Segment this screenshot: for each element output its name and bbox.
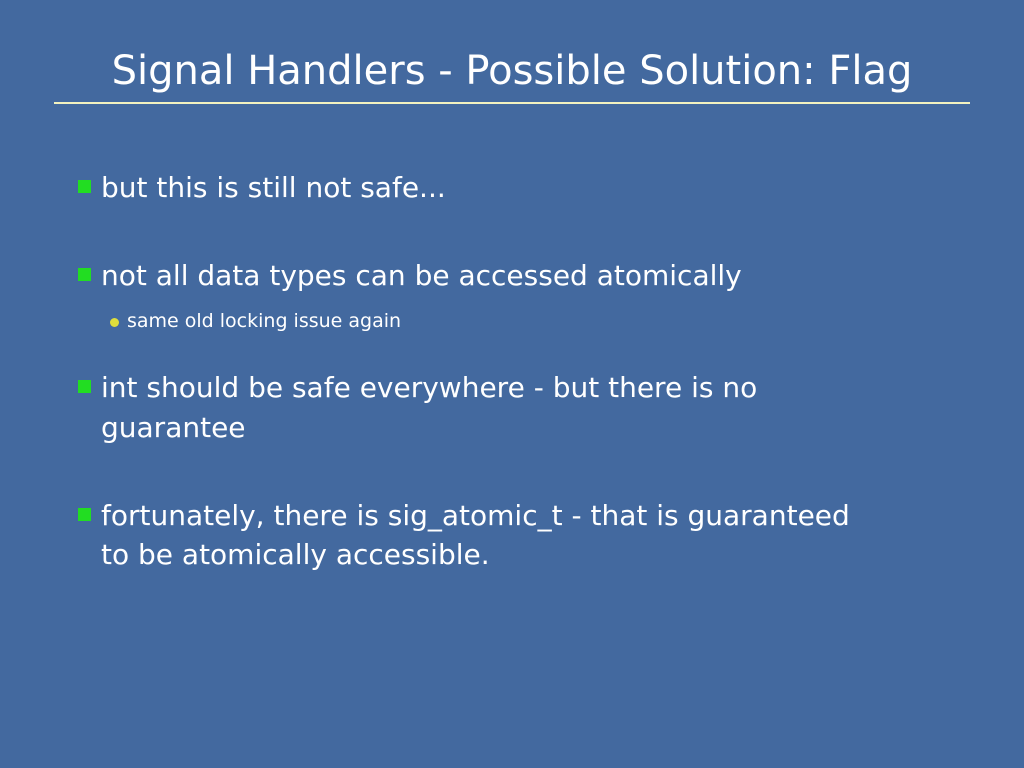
- page-title: Signal Handlers - Possible Solution: Fla…: [54, 48, 970, 94]
- list-item-label: not all data types can be accessed atomi…: [101, 256, 742, 296]
- list-item-label: but this is still not safe...: [101, 168, 446, 208]
- list-item-label: fortunately, there is sig_atomic_t - tha…: [101, 496, 881, 576]
- slide-title-area: Signal Handlers - Possible Solution: Fla…: [54, 48, 970, 104]
- list-item: but this is still not safe...: [78, 168, 958, 208]
- square-bullet-icon: [78, 268, 91, 281]
- title-divider: [54, 102, 970, 104]
- list-item: fortunately, there is sig_atomic_t - tha…: [78, 496, 958, 576]
- square-bullet-icon: [78, 380, 91, 393]
- square-bullet-icon: [78, 508, 91, 521]
- spacer: [78, 474, 958, 496]
- list-item-label: int should be safe everywhere - but ther…: [101, 368, 881, 448]
- dot-bullet-icon: [110, 318, 119, 327]
- square-bullet-icon: [78, 180, 91, 193]
- sub-list-item: same old locking issue again: [110, 308, 958, 335]
- list-item: int should be safe everywhere - but ther…: [78, 368, 958, 448]
- spacer: [78, 234, 958, 256]
- list-item: not all data types can be accessed atomi…: [78, 256, 958, 296]
- slide-body: but this is still not safe... not all da…: [78, 168, 958, 601]
- slide: Signal Handlers - Possible Solution: Fla…: [0, 0, 1024, 768]
- spacer: [78, 358, 958, 368]
- sub-list-item-label: same old locking issue again: [127, 308, 401, 335]
